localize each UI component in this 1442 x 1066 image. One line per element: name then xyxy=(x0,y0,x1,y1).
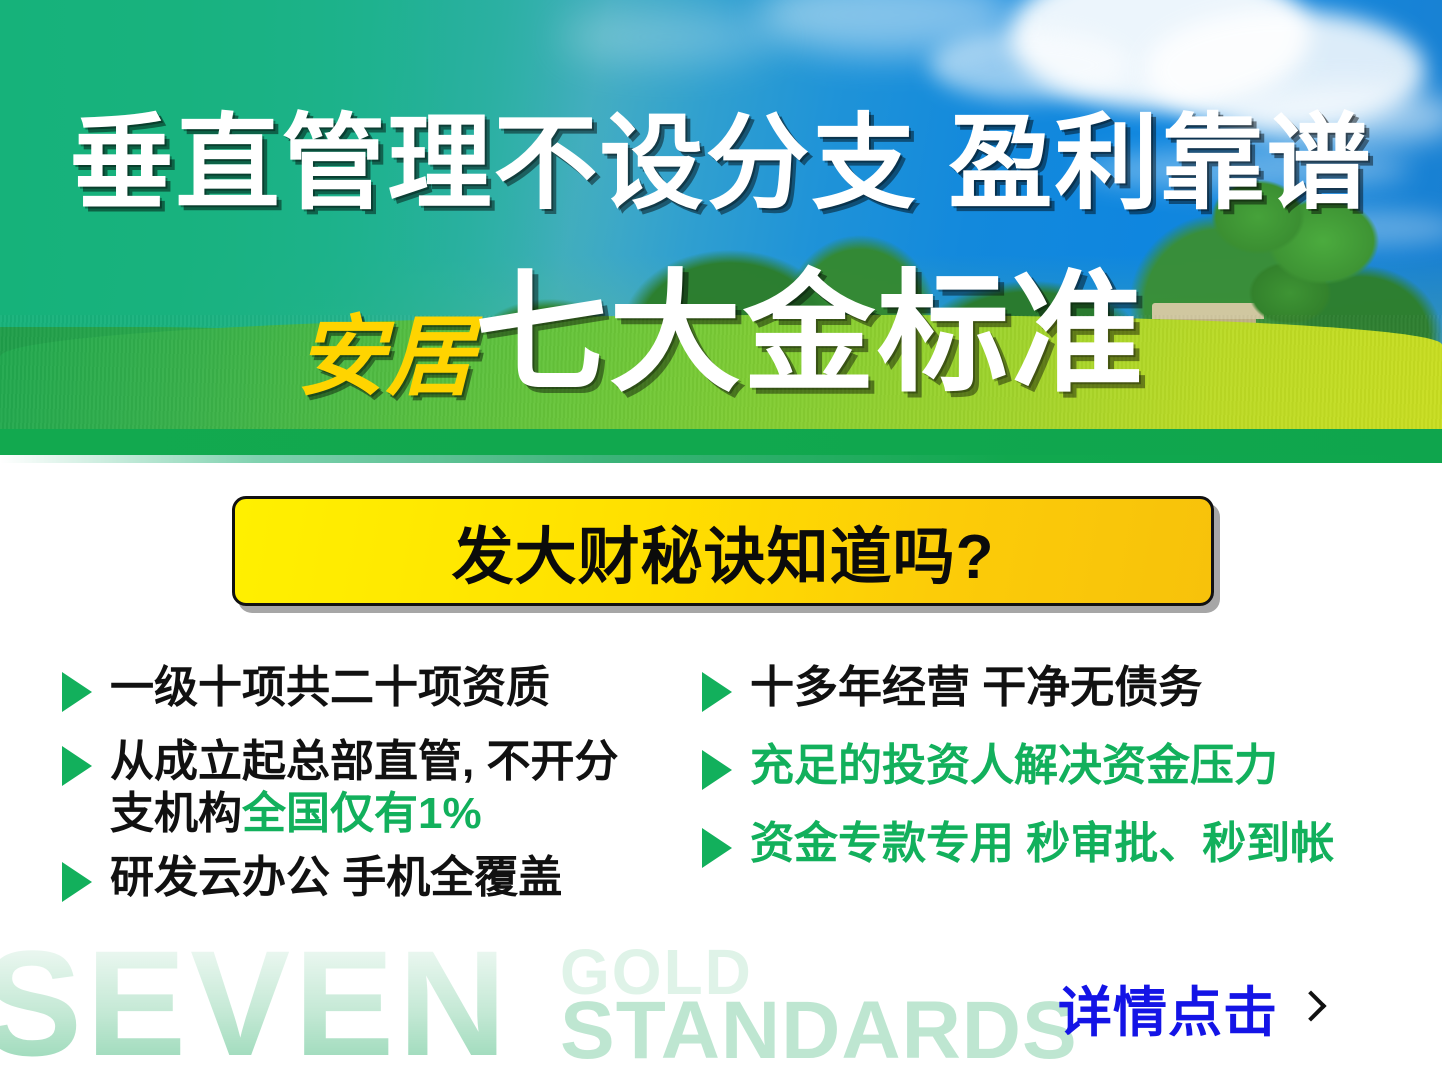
feature-label: 十多年经营 干净无债务 xyxy=(750,662,1202,714)
feature-label: 资金专款专用 秒审批、秒到帐 xyxy=(750,818,1334,870)
list-item: 充足的投资人解决资金压力 xyxy=(702,740,1442,792)
list-item: 资金专款专用 秒审批、秒到帐 xyxy=(702,818,1442,870)
features-section: 一级十项共二十项资质 从成立起总部直管, 不开分支机构全国仅有1% 研发云办公 … xyxy=(0,662,1442,992)
feature-label-highlight: 全国仅有1% xyxy=(242,789,482,838)
feature-label: 一级十项共二十项资质 xyxy=(110,662,550,714)
features-column-left: 一级十项共二十项资质 从成立起总部直管, 不开分支机构全国仅有1% 研发云办公 … xyxy=(0,662,690,992)
details-cta-label: 详情点击 xyxy=(1058,968,1278,1047)
hero-headline-slogan: 七大金标准 xyxy=(475,260,1145,407)
question-banner[interactable]: 发大财秘诀知道吗? xyxy=(232,496,1214,606)
list-item: 从成立起总部直管, 不开分支机构全国仅有1% xyxy=(62,736,690,840)
feature-label: 研发云办公 手机全覆盖 xyxy=(110,852,562,904)
triangle-bullet-icon xyxy=(702,750,732,790)
triangle-bullet-icon xyxy=(702,672,732,712)
hero-banner: 垂直管理不设分支 盈利靠谱 安居七大金标准 xyxy=(0,0,1442,463)
feature-label: 从成立起总部直管, 不开分支机构全国仅有1% xyxy=(110,736,630,840)
hero-headline-secondary: 安居七大金标准 xyxy=(0,268,1442,401)
triangle-bullet-icon xyxy=(62,862,92,902)
question-banner-label: 发大财秘诀知道吗? xyxy=(452,506,995,596)
chevron-right-icon xyxy=(1295,990,1326,1021)
hero-headline-primary: 垂直管理不设分支 盈利靠谱 xyxy=(0,112,1442,216)
list-item: 研发云办公 手机全覆盖 xyxy=(62,852,690,904)
hero-headline-brand: 安居 xyxy=(297,307,475,406)
features-column-right: 十多年经营 干净无债务 充足的投资人解决资金压力 资金专款专用 秒审批、秒到帐 xyxy=(690,662,1442,992)
cloud-icon xyxy=(560,10,780,64)
feature-label: 充足的投资人解决资金压力 xyxy=(750,740,1278,792)
watermark-standards: STANDARDS xyxy=(560,990,1078,1066)
triangle-bullet-icon xyxy=(62,746,92,786)
hero-fade-divider xyxy=(0,455,1442,463)
details-cta-link[interactable]: 详情点击 xyxy=(1058,968,1322,1047)
hero-green-band xyxy=(0,429,1442,455)
triangle-bullet-icon xyxy=(702,828,732,868)
triangle-bullet-icon xyxy=(62,672,92,712)
list-item: 十多年经营 干净无债务 xyxy=(702,662,1442,714)
list-item: 一级十项共二十项资质 xyxy=(62,662,690,714)
